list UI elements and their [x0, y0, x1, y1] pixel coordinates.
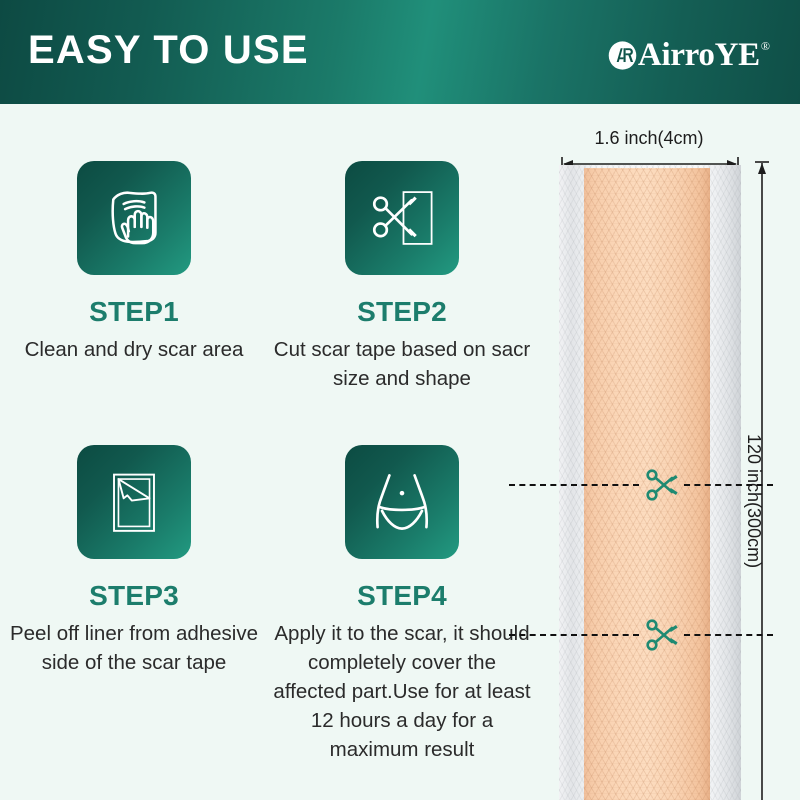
- cut-marker-1: [509, 465, 773, 505]
- step-2-description: Cut scar tape based on sacr size and sha…: [268, 335, 536, 393]
- step-2-title: STEP2: [268, 296, 536, 328]
- step-card-1: STEP1 Clean and dry scar area: [0, 161, 268, 364]
- brand-registered-mark: ®: [761, 40, 770, 52]
- step-3-title: STEP3: [0, 580, 268, 612]
- cut-dashed-line-right: [684, 484, 773, 486]
- step-card-2: STEP2 Cut scar tape based on sacr size a…: [268, 161, 536, 393]
- scar-tape-product-image: [559, 165, 741, 800]
- product-width-label: 1.6 inch(4cm): [536, 128, 762, 149]
- page-header: EASY TO USE AirroYE ®: [0, 0, 800, 104]
- brand-wordmark: AirroYE: [638, 39, 760, 72]
- step-3-icon-tile: [77, 445, 191, 559]
- hand-wiping-cloth-icon: [97, 181, 171, 255]
- step-4-title: STEP4: [268, 580, 536, 612]
- step-4-description: Apply it to the scar, it should complete…: [268, 619, 536, 764]
- step-card-3: STEP3 Peel off liner from adhesive side …: [0, 445, 268, 677]
- brand-logo: AirroYE ®: [608, 38, 770, 72]
- scissors-cut-line-icon: [639, 468, 683, 502]
- steps-panel: STEP1 Clean and dry scar area STEP2 Cut …: [0, 104, 536, 800]
- step-1-title: STEP1: [0, 296, 268, 328]
- cut-dashed-line-left: [509, 634, 639, 636]
- step-1-icon-tile: [77, 161, 191, 275]
- airroye-monogram-badge-icon: [608, 41, 637, 70]
- cut-marker-2: [509, 615, 773, 655]
- product-panel: 1.6 inch(4cm) 120 inch(300cm): [536, 104, 800, 800]
- cut-dashed-line-left: [509, 484, 639, 486]
- page-title: EASY TO USE: [28, 28, 309, 73]
- step-card-4: STEP4 Apply it to the scar, it should co…: [268, 445, 536, 764]
- scissors-cutting-tape-icon: [365, 181, 439, 255]
- step-1-description: Clean and dry scar area: [0, 335, 268, 364]
- step-3-description: Peel off liner from adhesive side of the…: [0, 619, 268, 677]
- cut-dashed-line-right: [684, 634, 773, 636]
- step-4-icon-tile: [345, 445, 459, 559]
- peel-liner-corner-icon: [97, 465, 171, 539]
- scissors-cut-line-icon: [639, 618, 683, 652]
- torso-abdomen-icon: [365, 465, 439, 539]
- step-2-icon-tile: [345, 161, 459, 275]
